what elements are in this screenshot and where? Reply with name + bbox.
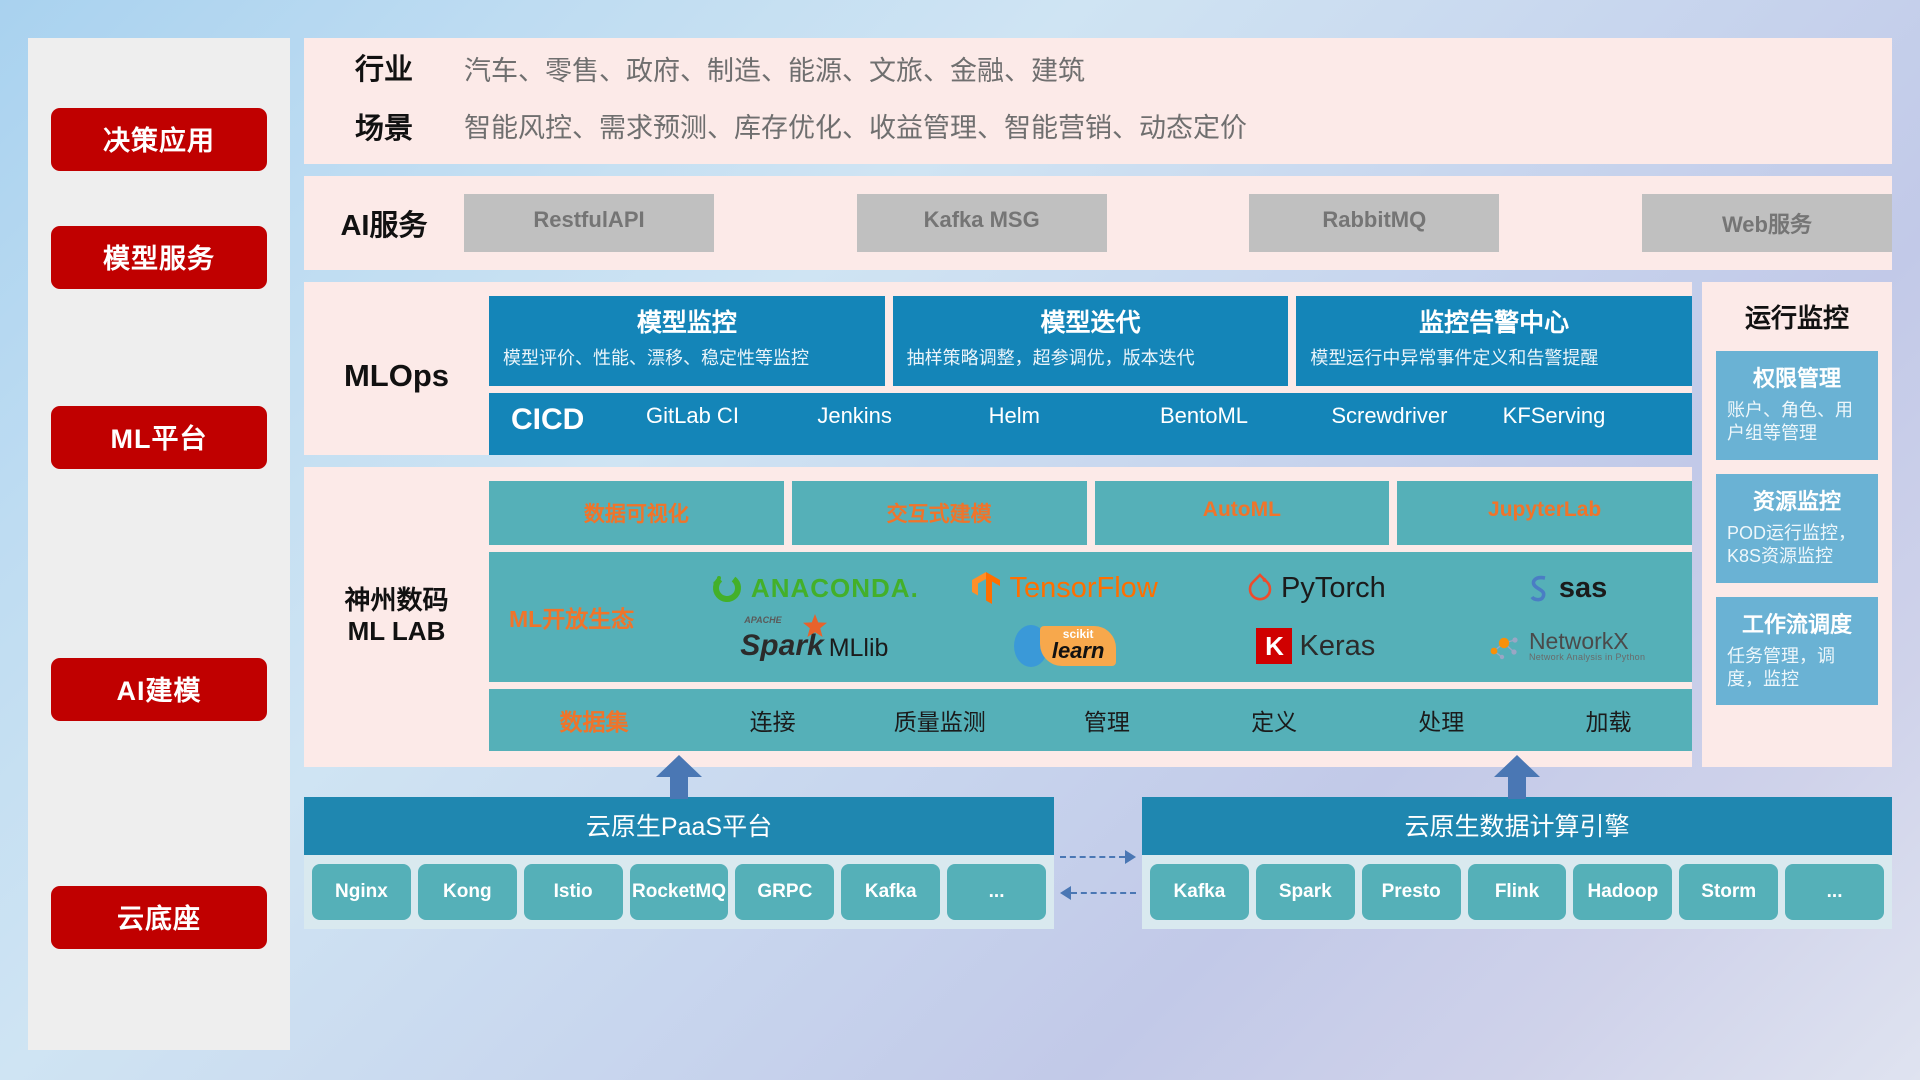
pytorch-wordmark: PyTorch [1281, 572, 1386, 605]
cloud-interconnect-arrows [1054, 851, 1142, 929]
monitor-card-permissions[interactable]: 权限管理 账户、角色、用户组等管理 [1716, 351, 1878, 460]
card-desc: POD运行监控，K8S资源监控 [1727, 522, 1867, 569]
cloud-compute-chips: Kafka Spark Presto Flink Hadoop Storm ..… [1142, 855, 1892, 929]
rail-item-decision-app[interactable]: 决策应用 [51, 108, 267, 171]
cloud-chip-istio[interactable]: Istio [524, 864, 623, 920]
cloud-compute-bar[interactable]: 云原生数据计算引擎 [1142, 797, 1892, 855]
apache-spark-mllib-logo: APACHE Spark MLlib [689, 618, 940, 674]
arrow-up-paas-icon [656, 755, 702, 797]
rail-item-model-service[interactable]: 模型服务 [51, 226, 267, 289]
mlops-card-model-monitoring[interactable]: 模型监控 模型评价、性能、漂移、稳定性等监控 [489, 296, 885, 386]
card-desc: 抽样策略调整，超参调优，版本迭代 [907, 346, 1275, 370]
cicd-items: GitLab CI Jenkins Helm BentoML Screwdriv… [646, 403, 1674, 428]
ml-ecosystem-label: ML开放生态 [499, 600, 689, 634]
mllib-wordmark: MLlib [829, 634, 889, 663]
cicd-item-kfserving[interactable]: KFServing [1503, 403, 1674, 428]
mllab-label-line1: 神州数码 [344, 585, 448, 616]
networkx-wordmark: NetworkX [1529, 629, 1645, 653]
cloud-chip-spark[interactable]: Spark [1256, 864, 1355, 920]
cloud-chip-flink[interactable]: Flink [1468, 864, 1567, 920]
pytorch-flame-icon [1246, 572, 1274, 604]
platform-column: MLOps 模型监控 模型评价、性能、漂移、稳定性等监控 模型迭代 抽样策略调整… [304, 282, 1692, 767]
mllab-tab-data-viz[interactable]: 数据可视化 [489, 481, 784, 545]
monitor-card-resources[interactable]: 资源监控 POD运行监控，K8S资源监控 [1716, 474, 1878, 583]
networkx-tagline: Network Analysis in Python [1529, 653, 1645, 662]
ai-service-panel: AI服务 RestfulAPI Kafka MSG RabbitMQ Web服务 [304, 176, 1892, 270]
tensorflow-logo: TensorFlow [940, 560, 1191, 616]
card-title: 资源监控 [1727, 484, 1867, 516]
runtime-monitor-title: 运行监控 [1716, 298, 1878, 335]
ml-ecosystem-logos: ANACONDA. TensorFlow [689, 560, 1692, 674]
industry-scenario-values: 汽车、零售、政府、制造、能源、文旅、金融、建筑 智能风控、需求预测、库存优化、收… [464, 58, 1892, 142]
card-desc: 任务管理，调度，监控 [1727, 645, 1867, 692]
cloud-chip-more[interactable]: ... [947, 864, 1046, 920]
dataset-item-define[interactable]: 定义 [1191, 703, 1358, 737]
card-title: 工作流调度 [1727, 607, 1867, 639]
cicd-label: CICD [511, 403, 646, 437]
dataset-item-manage[interactable]: 管理 [1023, 703, 1190, 737]
cloud-chip-kafka[interactable]: Kafka [1150, 864, 1249, 920]
cloud-chip-hadoop[interactable]: Hadoop [1573, 864, 1672, 920]
keras-mark-icon: K [1256, 628, 1292, 664]
cicd-bar: CICD GitLab CI Jenkins Helm BentoML Scre… [489, 393, 1692, 455]
networkx-graph-icon [1488, 631, 1522, 661]
card-title: 模型迭代 [907, 309, 1275, 338]
card-title: 模型监控 [503, 309, 871, 338]
mlops-cards: 模型监控 模型评价、性能、漂移、稳定性等监控 模型迭代 抽样策略调整，超参调优，… [489, 296, 1692, 386]
cicd-item-bentoml[interactable]: BentoML [1160, 403, 1331, 428]
dataset-label: 数据集 [499, 703, 689, 737]
cicd-item-screwdriver[interactable]: Screwdriver [1331, 403, 1502, 428]
mlops-card-model-iteration[interactable]: 模型迭代 抽样策略调整，超参调优，版本迭代 [893, 296, 1289, 386]
cloud-chip-grpc[interactable]: GRPC [735, 864, 834, 920]
scikit-learn-logo: scikit learn [940, 618, 1191, 674]
ai-service-chip-rabbitmq[interactable]: RabbitMQ [1249, 194, 1499, 252]
cicd-item-helm[interactable]: Helm [989, 403, 1160, 428]
tensorflow-wordmark: TensorFlow [1009, 572, 1157, 605]
cicd-item-jenkins[interactable]: Jenkins [817, 403, 988, 428]
mllab-label-line2: ML LAB [348, 616, 446, 647]
cloud-chip-storm[interactable]: Storm [1679, 864, 1778, 920]
mllab-label: 神州数码 ML LAB [304, 481, 489, 751]
arrow-up-compute-icon [1494, 755, 1540, 797]
learn-wordmark: learn [1052, 640, 1105, 662]
mllab-tab-interactive[interactable]: 交互式建模 [792, 481, 1087, 545]
mllab-panel: 神州数码 ML LAB 数据可视化 交互式建模 AutoML JupyterLa… [304, 467, 1692, 767]
ai-service-chip-web[interactable]: Web服务 [1642, 194, 1892, 252]
card-desc: 模型评价、性能、漂移、稳定性等监控 [503, 346, 871, 370]
arrow-head-right-icon [1125, 850, 1136, 864]
anaconda-ring-icon [710, 571, 744, 605]
sas-wordmark: sas [1559, 572, 1607, 605]
cloud-paas-bar[interactable]: 云原生PaaS平台 [304, 797, 1054, 855]
architecture-diagram: 决策应用 模型服务 ML平台 AI建模 云底座 行业 场景 汽车、零售、政府、制… [0, 0, 1920, 1080]
dataset-item-process[interactable]: 处理 [1358, 703, 1525, 737]
scikit-orange-card: scikit learn [1040, 626, 1117, 666]
runtime-monitor-panel: 运行监控 权限管理 账户、角色、用户组等管理 资源监控 POD运行监控，K8S资… [1702, 282, 1892, 767]
sas-mark-icon [1526, 573, 1552, 603]
scenario-values: 智能风控、需求预测、库存优化、收益管理、智能营销、动态定价 [464, 115, 1892, 142]
cloud-compute-group: 云原生数据计算引擎 Kafka Spark Presto Flink Hadoo… [1142, 755, 1892, 929]
dashed-line [1060, 856, 1125, 858]
cloud-paas-chips: Nginx Kong Istio RocketMQ GRPC Kafka ... [304, 855, 1054, 929]
mllab-body: 数据可视化 交互式建模 AutoML JupyterLab ML开放生态 [489, 481, 1692, 751]
cloud-chip-rocketmq[interactable]: RocketMQ [630, 864, 729, 920]
dataset-row: 数据集 连接 质量监测 管理 定义 处理 加载 [489, 689, 1692, 751]
ai-service-chips: RestfulAPI Kafka MSG RabbitMQ Web服务 [464, 194, 1892, 252]
cloud-chip-kong[interactable]: Kong [418, 864, 517, 920]
mllab-tab-jupyterlab[interactable]: JupyterLab [1397, 481, 1692, 545]
cloud-paas-group: 云原生PaaS平台 Nginx Kong Istio RocketMQ GRPC… [304, 755, 1054, 929]
mlops-label: MLOps [304, 296, 489, 455]
dataset-item-load[interactable]: 加载 [1525, 703, 1692, 737]
card-title: 权限管理 [1727, 361, 1867, 393]
ai-service-chip-kafka-msg[interactable]: Kafka MSG [857, 194, 1107, 252]
layer-rail: 决策应用 模型服务 ML平台 AI建模 云底座 [28, 38, 290, 1050]
cloud-chip-kafka[interactable]: Kafka [841, 864, 940, 920]
mllab-tab-automl[interactable]: AutoML [1095, 481, 1390, 545]
industry-values: 汽车、零售、政府、制造、能源、文旅、金融、建筑 [464, 58, 1892, 85]
rail-item-ml-platform[interactable]: ML平台 [51, 406, 267, 469]
main-column: 行业 场景 汽车、零售、政府、制造、能源、文旅、金融、建筑 智能风控、需求预测、… [304, 38, 1892, 1050]
spark-apache-sup: APACHE [744, 615, 781, 625]
dashed-arrow-left [1060, 887, 1136, 899]
rail-item-cloud-base[interactable]: 云底座 [51, 886, 267, 949]
anaconda-logo: ANACONDA. [689, 560, 940, 616]
sas-logo: sas [1441, 560, 1692, 616]
dataset-item-quality[interactable]: 质量监测 [856, 703, 1023, 737]
ai-service-chip-restfulapi[interactable]: RestfulAPI [464, 194, 714, 252]
mlops-card-alert-center[interactable]: 监控告警中心 模型运行中异常事件定义和告警提醒 [1296, 296, 1692, 386]
mlops-panel: MLOps 模型监控 模型评价、性能、漂移、稳定性等监控 模型迭代 抽样策略调整… [304, 282, 1692, 455]
monitor-card-workflow[interactable]: 工作流调度 任务管理，调度，监控 [1716, 597, 1878, 706]
scenario-label: 场景 [304, 115, 464, 144]
dashed-arrow-right [1060, 851, 1136, 863]
anaconda-wordmark: ANACONDA. [751, 573, 919, 604]
tensorflow-mark-icon [972, 571, 1002, 605]
industry-label: 行业 [304, 56, 464, 85]
dataset-item-connect[interactable]: 连接 [689, 703, 856, 737]
ml-ecosystem-row: ML开放生态 ANACONDA. [489, 552, 1692, 682]
cloud-foundation-row: 云原生PaaS平台 Nginx Kong Istio RocketMQ GRPC… [304, 779, 1892, 929]
keras-logo: K Keras [1191, 618, 1442, 674]
card-desc: 模型运行中异常事件定义和告警提醒 [1310, 346, 1678, 370]
arrow-head-left-icon [1060, 886, 1071, 900]
cicd-item-gitlab-ci[interactable]: GitLab CI [646, 403, 817, 428]
cloud-chip-nginx[interactable]: Nginx [312, 864, 411, 920]
spark-star-icon [802, 613, 828, 639]
networkx-logo: NetworkX Network Analysis in Python [1441, 618, 1692, 674]
rail-item-ai-modeling[interactable]: AI建模 [51, 658, 267, 721]
mllab-tabs: 数据可视化 交互式建模 AutoML JupyterLab [489, 481, 1692, 545]
ai-service-label: AI服务 [304, 202, 464, 244]
platform-and-monitor: MLOps 模型监控 模型评价、性能、漂移、稳定性等监控 模型迭代 抽样策略调整… [304, 282, 1892, 767]
pytorch-logo: PyTorch [1191, 560, 1442, 616]
dashed-line [1071, 892, 1136, 894]
industry-scenario-labels: 行业 场景 [304, 56, 464, 144]
cloud-chip-more[interactable]: ... [1785, 864, 1884, 920]
card-desc: 账户、角色、用户组等管理 [1727, 399, 1867, 446]
mlops-body: 模型监控 模型评价、性能、漂移、稳定性等监控 模型迭代 抽样策略调整，超参调优，… [489, 296, 1692, 455]
dataset-items: 连接 质量监测 管理 定义 处理 加载 [689, 703, 1692, 737]
keras-wordmark: Keras [1299, 630, 1375, 663]
industry-scenario-panel: 行业 场景 汽车、零售、政府、制造、能源、文旅、金融、建筑 智能风控、需求预测、… [304, 38, 1892, 164]
cloud-chip-presto[interactable]: Presto [1362, 864, 1461, 920]
card-title: 监控告警中心 [1310, 309, 1678, 338]
